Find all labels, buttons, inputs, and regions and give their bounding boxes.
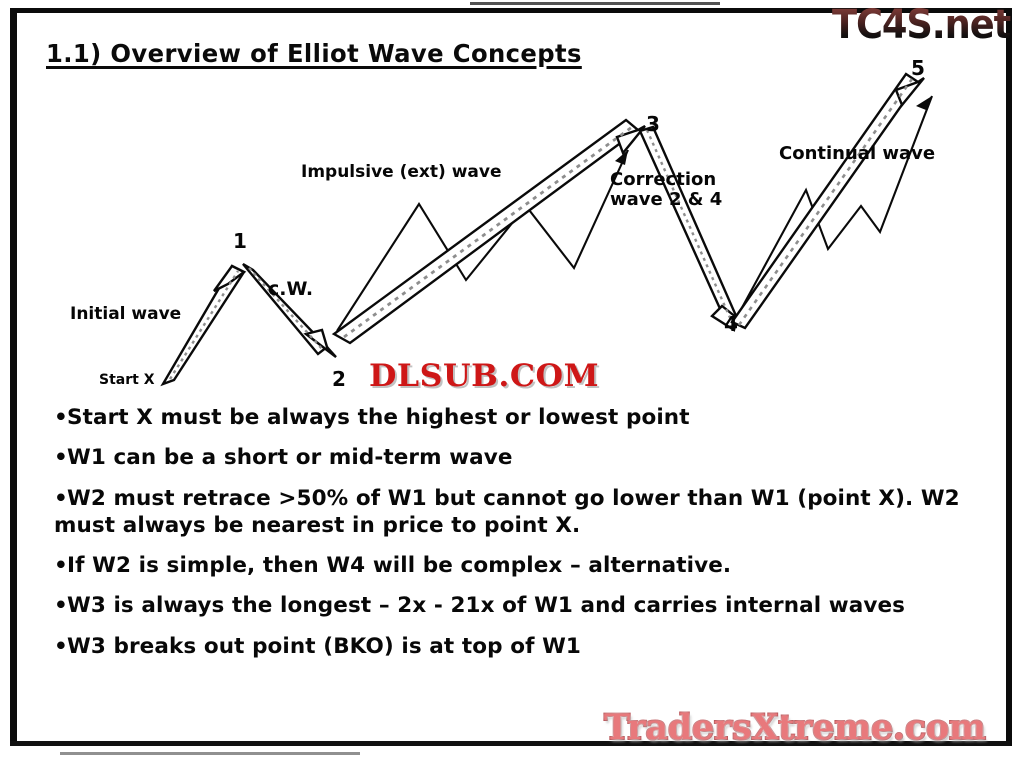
- arrow-wave-2-head: [306, 330, 336, 357]
- arrow-wave-3-head: [617, 126, 645, 153]
- watermark-tc4s: TC4S.net: [832, 2, 1010, 48]
- arrow-wave-4-shading: [647, 130, 731, 320]
- arrow-wave-5-shaft: [732, 74, 918, 328]
- bullet-marker-icon: •: [54, 444, 65, 471]
- label-initial-wave: Initial wave: [70, 305, 181, 324]
- arrow-wave-5-shading: [739, 79, 912, 325]
- bullet-item: •W3 breaks out point (BKO) is at top of …: [54, 633, 984, 660]
- subwave-w5-tail: [738, 300, 754, 315]
- page-title: 1.1) Overview of Elliot Wave Concepts: [46, 39, 582, 68]
- label-corrective-wave: c.W.: [268, 279, 313, 300]
- bullet-marker-icon: •: [54, 404, 65, 431]
- bullet-text: W3 breaks out point (BKO) is at top of W…: [67, 634, 581, 659]
- label-point-1: 1: [233, 230, 247, 252]
- arrow-wave-1-head: [214, 266, 244, 291]
- subwave-zigzag-group: [337, 96, 932, 331]
- label-point-3: 3: [646, 113, 660, 135]
- bullet-item: •Start X must be always the highest or l…: [54, 404, 984, 431]
- rules-bullet-list: •Start X must be always the highest or l…: [54, 404, 984, 673]
- bullet-text: W3 is always the longest – 2x - 21x of W…: [67, 593, 905, 618]
- label-point-2: 2: [332, 368, 346, 390]
- bullet-marker-icon: •: [54, 485, 65, 512]
- page-border-right: [1006, 8, 1012, 746]
- arrow-wave-4-shaft: [640, 127, 737, 322]
- page-border-left: [10, 8, 17, 746]
- arrow-wave-3-shaft: [334, 120, 638, 343]
- arrow-wave-5-head: [896, 78, 924, 105]
- label-continual-wave: Continual wave: [779, 144, 935, 164]
- label-correction-line2: wave 2 & 4: [610, 189, 722, 210]
- label-correction-line1: Correction: [610, 169, 716, 190]
- bullet-item: •W2 must retrace >50% of W1 but cannot g…: [54, 485, 984, 540]
- subwave-w5-arrowhead: [916, 96, 932, 110]
- label-correction-wave: Correction wave 2 & 4: [610, 170, 722, 210]
- bullet-marker-icon: •: [54, 552, 65, 579]
- subwave-w5-internal: [738, 96, 932, 315]
- main-wave-arrows: [163, 74, 924, 384]
- arrow-wave-3-shading: [344, 127, 632, 337]
- bullet-text: Start X must be always the highest or lo…: [67, 405, 690, 430]
- bullet-item: •W3 is always the longest – 2x - 21x of …: [54, 592, 984, 619]
- watermark-traders: TradersXtreme.com: [604, 707, 986, 748]
- label-point-5: 5: [911, 57, 925, 79]
- label-start-x: Start X: [99, 373, 155, 389]
- scan-artifact-bottom: [60, 752, 360, 755]
- scan-artifact-top: [470, 2, 720, 5]
- bullet-text: If W2 is simple, then W4 will be complex…: [67, 553, 731, 578]
- bullet-text: W2 must retrace >50% of W1 but cannot go…: [54, 486, 960, 538]
- arrow-wave-1-shading: [170, 271, 238, 379]
- label-point-4: 4: [724, 313, 738, 335]
- arrow-wave-1-shaft: [163, 266, 244, 384]
- bullet-item: •W1 can be a short or mid-term wave: [54, 444, 984, 471]
- bullet-item: •If W2 is simple, then W4 will be comple…: [54, 552, 984, 579]
- watermark-dlsub: DLSUB.COM: [369, 358, 599, 394]
- subwave-w3-arrowhead: [615, 150, 628, 165]
- slide-page: 1.1) Overview of Elliot Wave Concepts: [0, 0, 1024, 763]
- label-impulsive-wave: Impulsive (ext) wave: [301, 163, 501, 182]
- bullet-marker-icon: •: [54, 592, 65, 619]
- bullet-text: W1 can be a short or mid-term wave: [67, 445, 513, 470]
- bullet-marker-icon: •: [54, 633, 65, 660]
